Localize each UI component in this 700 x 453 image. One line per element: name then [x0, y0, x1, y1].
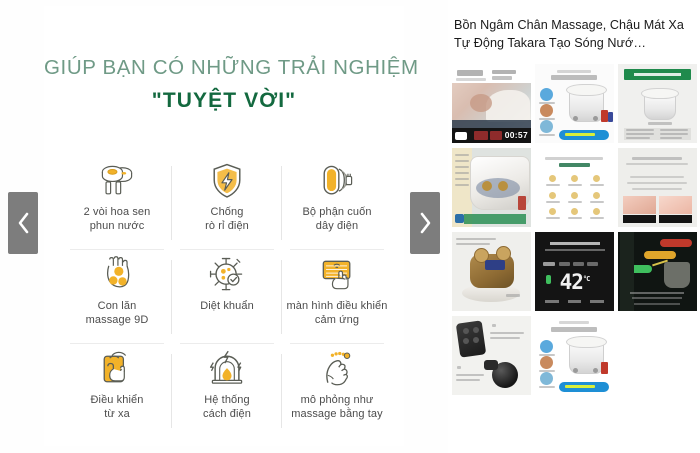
feature-item-roller: Con lănmassage 9D [62, 250, 172, 344]
cord-winder-icon [315, 160, 359, 202]
thumbnail-dark-diagram[interactable] [618, 232, 697, 311]
thumbnail-foot-benefit[interactable] [618, 148, 697, 227]
chevron-right-icon [418, 211, 433, 235]
insulation-icon [205, 348, 249, 390]
germ-kill-icon [205, 254, 249, 296]
shower-head-icon [95, 160, 139, 202]
thumbnail-roller-closeup[interactable] [452, 232, 531, 311]
thumbnail-product-infographic[interactable] [535, 64, 614, 143]
headline-line-1: GIÚP BẠN CÓ NHỮNG TRẢI NGHIỆM [44, 56, 404, 80]
feature-grid: 2 vòi hoa senphun nước Chốngrò rỉ điện [62, 156, 392, 438]
feature-label: mô phỏng nhưmassage bằng tay [291, 394, 383, 421]
feature-item-touch-panel: màn hình điều khiểncảm ứng [282, 250, 392, 344]
temperature-unit: °C [583, 275, 589, 283]
massage-roller-icon [95, 254, 139, 296]
chevron-left-icon [16, 211, 31, 235]
hand-massage-icon [315, 348, 359, 390]
feature-item-hand-massage: mô phỏng nhưmassage bằng tay [282, 344, 392, 438]
feature-poster: GIÚP BẠN CÓ NHỮNG TRẢI NGHIỆM "TUYỆT VỜI… [44, 6, 404, 446]
product-gallery-page: GIÚP BẠN CÓ NHỮNG TRẢI NGHIỆM "TUYỆT VỜI… [0, 0, 700, 453]
thumbnail-feature-grid-selected[interactable] [535, 148, 614, 227]
feature-item-remote: Điều khiểntừ xa [62, 344, 172, 438]
feature-item-sterilize: Diệt khuẩn [172, 250, 282, 344]
thumbnail-gallery: 00:57 [452, 64, 700, 395]
main-image-stage[interactable]: GIÚP BẠN CÓ NHỮNG TRẢI NGHIỆM "TUYỆT VỜI… [0, 0, 448, 453]
feature-item-insulation: Hệ thốngcách điện [172, 344, 282, 438]
video-duration: 00:57 [505, 130, 528, 140]
thumbnail-temperature-display[interactable]: 42°C [535, 232, 614, 311]
product-info-pane: Bồn Ngâm Chân Massage, Chậu Mát Xa Tự Độ… [448, 0, 700, 453]
headline-line-2: "TUYỆT VỜI" [44, 89, 404, 113]
feature-item-anti-leak: Chốngrò rỉ điện [172, 156, 282, 250]
gallery-next-button[interactable] [410, 192, 440, 254]
feature-item-cord-winder: Bộ phận cuốndây điện [282, 156, 392, 250]
touch-panel-icon [315, 254, 359, 296]
thumbnail-basin-photo[interactable] [452, 148, 531, 227]
shield-bolt-icon [205, 160, 249, 202]
feature-label: Điều khiểntừ xa [91, 394, 144, 421]
product-title: Bồn Ngâm Chân Massage, Chậu Mát Xa Tự Độ… [454, 17, 698, 52]
temperature-number: 42 [560, 270, 583, 294]
thumbnail-product-infographic-2[interactable] [535, 316, 614, 395]
gallery-prev-button[interactable] [8, 192, 38, 254]
thumbnail-parts-remote-wheel[interactable] [452, 316, 531, 395]
feature-label: Bộ phận cuốndây điện [302, 206, 371, 233]
remote-control-icon [95, 348, 139, 390]
thumbnail-video-takara-intro[interactable]: 00:57 [452, 64, 531, 143]
feature-label: Hệ thốngcách điện [203, 394, 251, 421]
feature-label: màn hình điều khiểncảm ứng [287, 300, 388, 327]
poster-headline: GIÚP BẠN CÓ NHỮNG TRẢI NGHIỆM "TUYỆT VỜI… [44, 56, 404, 113]
play-indicator-icon [455, 132, 467, 140]
feature-label: 2 vòi hoa senphun nước [84, 206, 151, 233]
thumbnail-spec-sheet[interactable] [618, 64, 697, 143]
feature-item-shower-head: 2 vòi hoa senphun nước [62, 156, 172, 250]
feature-label: Chốngrò rỉ điện [205, 206, 249, 233]
feature-label: Con lănmassage 9D [86, 300, 149, 327]
feature-label: Diệt khuẩn [200, 300, 254, 314]
temperature-value: 42°C [535, 270, 614, 294]
